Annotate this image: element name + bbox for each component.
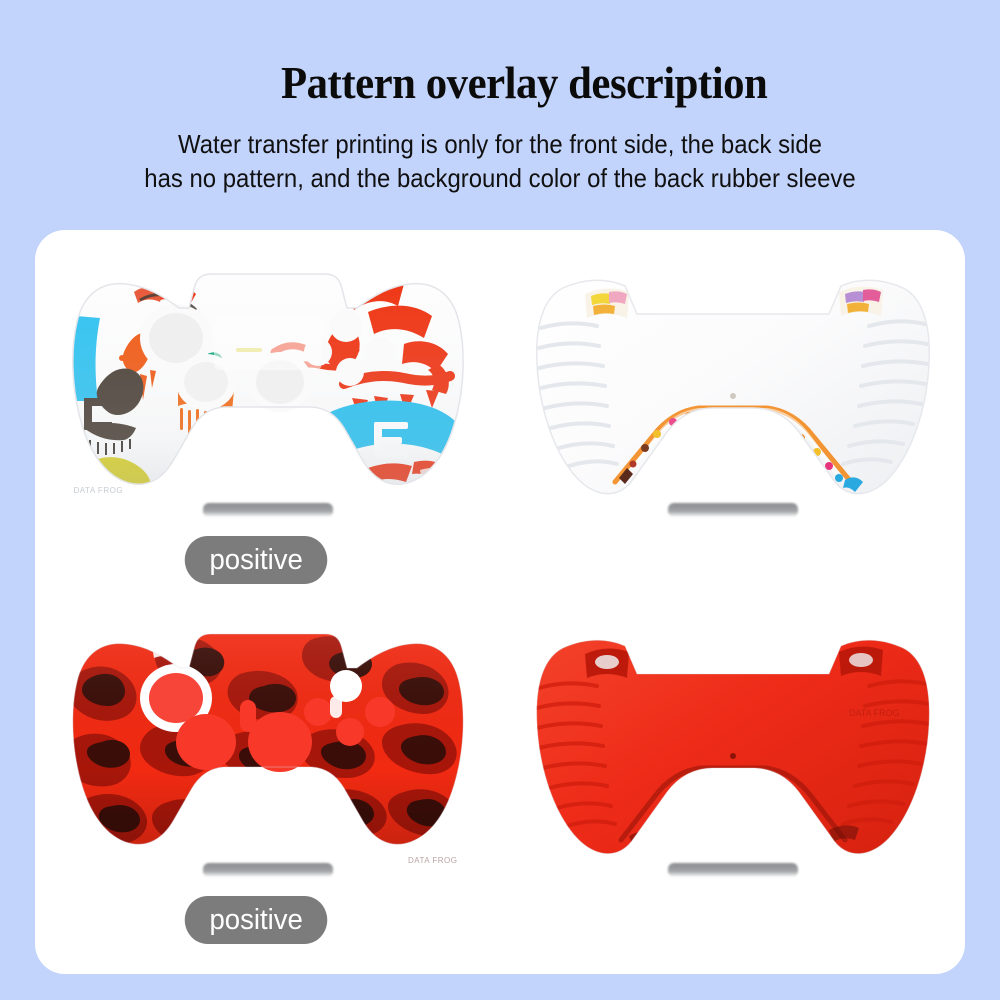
controller-shadow (203, 863, 333, 877)
gamepad-skin-camo-front-icon (68, 616, 468, 871)
badge-camo-front: positive (185, 896, 328, 944)
product-image-card: DATA FROG positive (35, 230, 965, 974)
controller-cell-graffiti-back: back (500, 248, 965, 608)
svg-text:DATA FROG: DATA FROG (849, 708, 900, 718)
controller-grid: DATA FROG positive (35, 230, 965, 974)
graffiti-front-stage: DATA FROG (35, 248, 500, 523)
watermark-label: DATA FROG (74, 486, 124, 495)
gamepad-skin-graffiti-back-icon (533, 256, 933, 511)
page-title: Pattern overlay description (35, 60, 965, 106)
controller-shadow (203, 503, 333, 517)
camo-front-image: DATA FROG (68, 616, 468, 871)
controller-shadow (668, 503, 798, 517)
controller-cell-camo-front: DATA FROG positive (35, 608, 500, 968)
graffiti-front-image: DATA FROG (68, 256, 468, 511)
badge-graffiti-front: positive (185, 536, 328, 584)
watermark-label: DATA FROG (408, 856, 458, 865)
camo-back-image: DATA FROG (533, 616, 933, 871)
graffiti-back-stage (500, 248, 965, 523)
controller-shadow (668, 863, 798, 877)
camo-back-stage: DATA FROG (500, 608, 965, 883)
header: Pattern overlay description Water transf… (0, 0, 1000, 230)
gamepad-skin-graffiti-front-icon (68, 256, 468, 511)
controller-cell-graffiti-front: DATA FROG positive (35, 248, 500, 608)
camo-front-stage: DATA FROG (35, 608, 500, 883)
gamepad-skin-red-back-icon: DATA FROG (533, 616, 933, 871)
controller-cell-camo-back: DATA FROG back (500, 608, 965, 968)
page-subtitle: Water transfer printing is only for the … (40, 127, 960, 195)
graffiti-back-image (533, 256, 933, 511)
